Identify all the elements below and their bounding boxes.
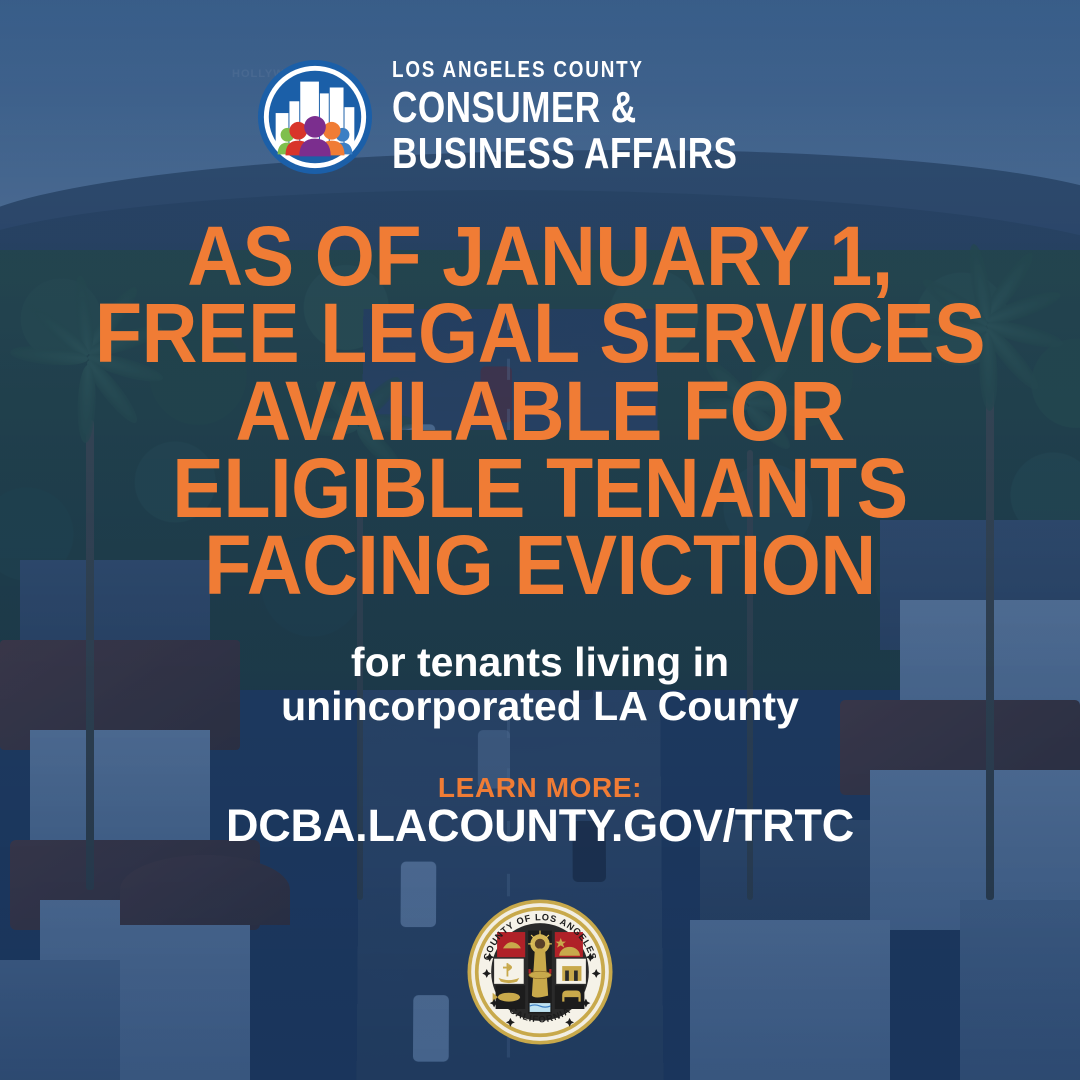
headline-line-1: AS OF JANUARY 1, [43,218,1037,295]
headline-line-4: ELIGIBLE TENANTS [43,450,1037,527]
subtitle: for tenants living in unincorporated LA … [0,640,1080,729]
dcba-circle-logo-icon [256,58,374,176]
dcba-logo-lockup: LOS ANGELES COUNTY CONSUMER & BUSINESS A… [0,58,1080,176]
dcba-logo-wordmark: LOS ANGELES COUNTY CONSUMER & BUSINESS A… [392,58,824,176]
subtitle-line-1: for tenants living in [0,640,1080,684]
logo-line-county: LOS ANGELES COUNTY [392,58,746,81]
headline-line-2: FREE LEGAL SERVICES [43,295,1037,372]
logo-line-business-affairs: BUSINESS AFFAIRS [392,132,737,176]
poster-content: LOS ANGELES COUNTY CONSUMER & BUSINESS A… [0,0,1080,1080]
logo-line-consumer: CONSUMER & [392,86,737,130]
poster-canvas: HOLLYWOOD [0,0,1080,1080]
subtitle-line-2: unincorporated LA County [0,684,1080,728]
headline-line-3: AVAILABLE FOR [43,373,1037,450]
headline-line-5: FACING EVICTION [43,527,1037,604]
headline: AS OF JANUARY 1, FREE LEGAL SERVICES AVA… [0,218,1080,604]
website-url[interactable]: DCBA.LACOUNTY.GOV/TRTC [0,800,1080,852]
county-of-los-angeles-seal-icon: COUNTY OF LOS ANGELES CALIFORNIA [466,898,614,1046]
county-seal: COUNTY OF LOS ANGELES CALIFORNIA [466,898,614,1046]
